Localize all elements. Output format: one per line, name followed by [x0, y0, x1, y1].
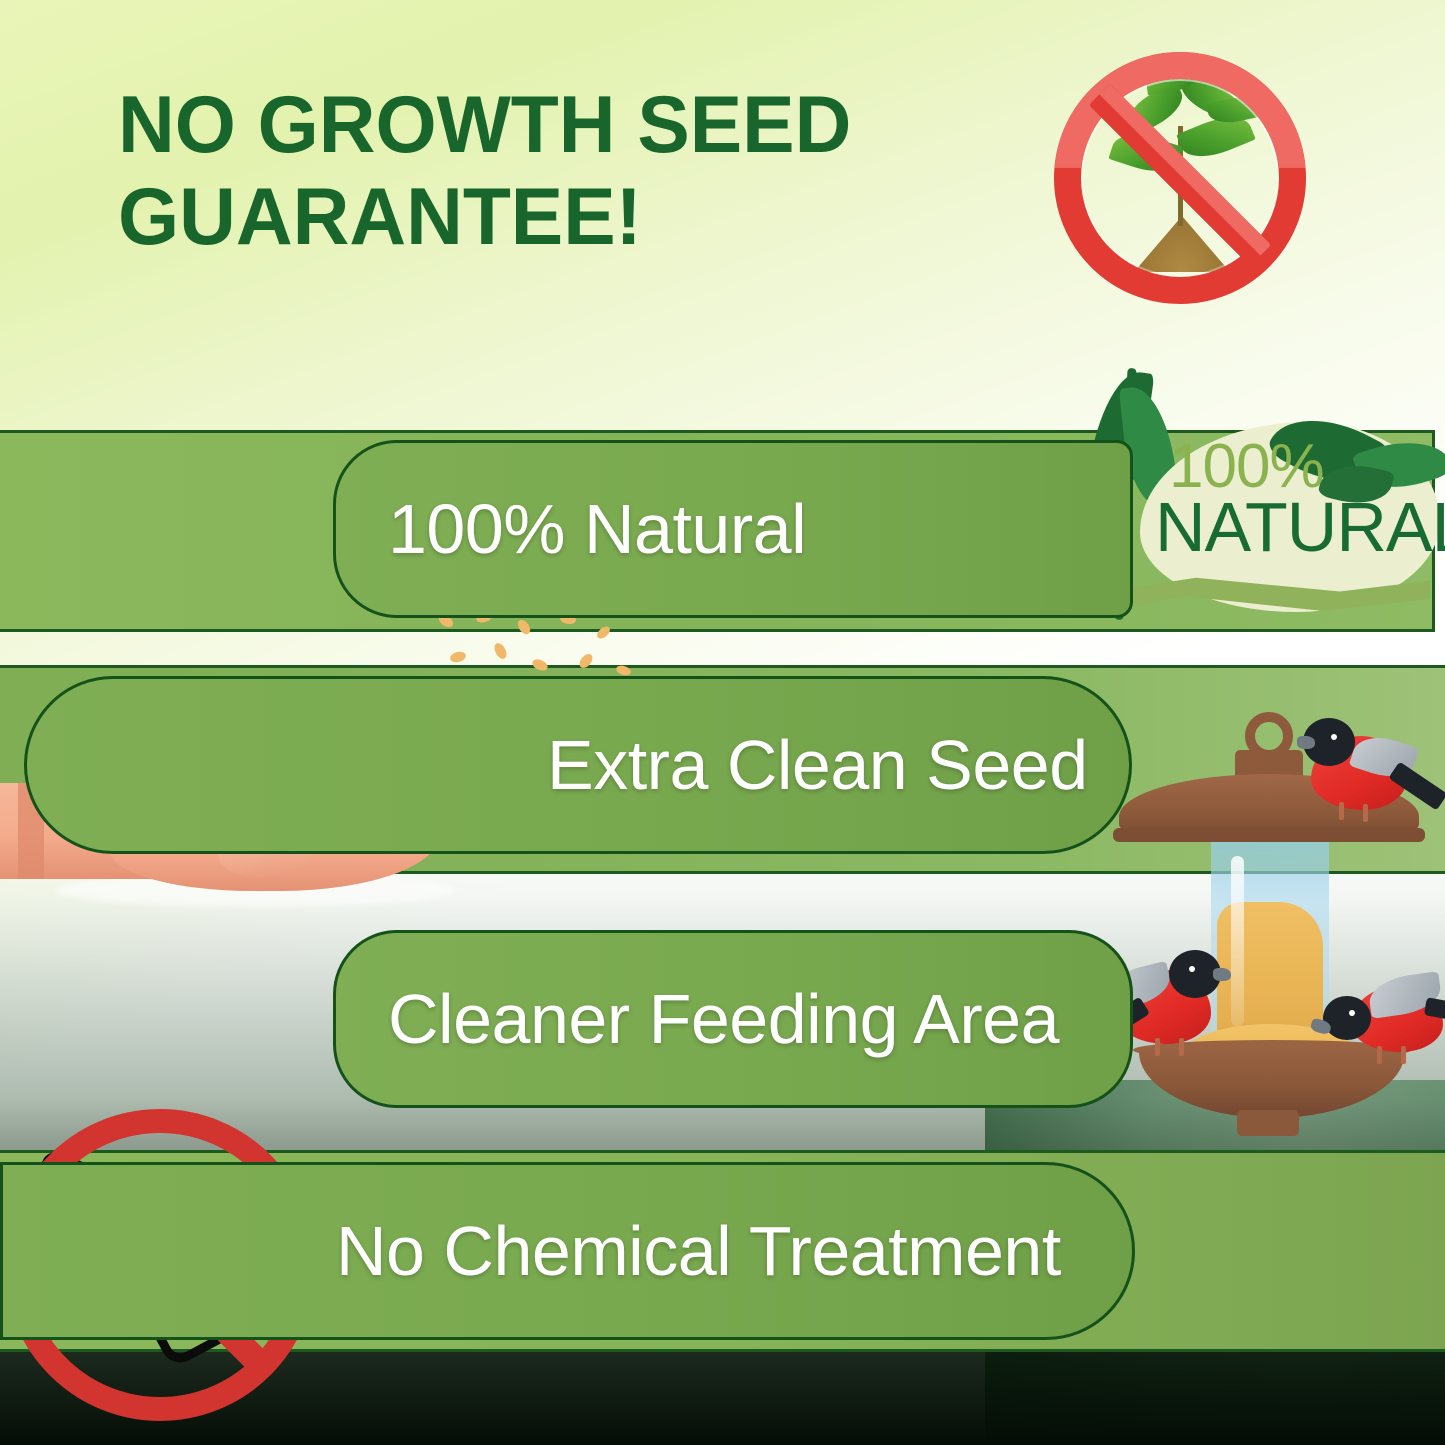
- badge-text: 100% NATURAL: [1155, 438, 1445, 559]
- bullfinch-bird: [1297, 714, 1445, 854]
- feature-pill-feeding-area[interactable]: Cleaner Feeding Area: [333, 930, 1133, 1108]
- feeder-base-shape: [1237, 1110, 1299, 1136]
- no-plant-growth-icon: [1050, 48, 1310, 308]
- badge-word-text: NATURAL: [1155, 495, 1445, 559]
- bullfinch-bird: [1321, 962, 1445, 1092]
- badge-percent-text: 100%: [1155, 438, 1445, 495]
- feature-label: 100% Natural: [388, 489, 806, 569]
- feature-pill-clean-seed[interactable]: Extra Clean Seed: [24, 676, 1132, 854]
- feature-pill-no-chemical[interactable]: No Chemical Treatment: [0, 1162, 1135, 1340]
- hundred-percent-natural-badge: 100% NATURAL: [1085, 360, 1445, 650]
- headline-line-2: GUARANTEE!: [118, 172, 972, 264]
- feature-pill-natural[interactable]: 100% Natural: [333, 440, 1133, 618]
- no-growth-seed-guarantee-poster: NO GROWTH SEED GUARANTEE! 100% NATURAL: [0, 0, 1445, 1445]
- feature-label: Extra Clean Seed: [547, 725, 1088, 805]
- page-title: NO GROWTH SEED GUARANTEE!: [118, 80, 972, 263]
- headline-line-1: NO GROWTH SEED: [118, 80, 972, 172]
- feature-label: No Chemical Treatment: [336, 1211, 1061, 1291]
- bird-feeder-with-bullfinches-illustration: [1085, 706, 1445, 1166]
- feature-label: Cleaner Feeding Area: [388, 979, 1059, 1059]
